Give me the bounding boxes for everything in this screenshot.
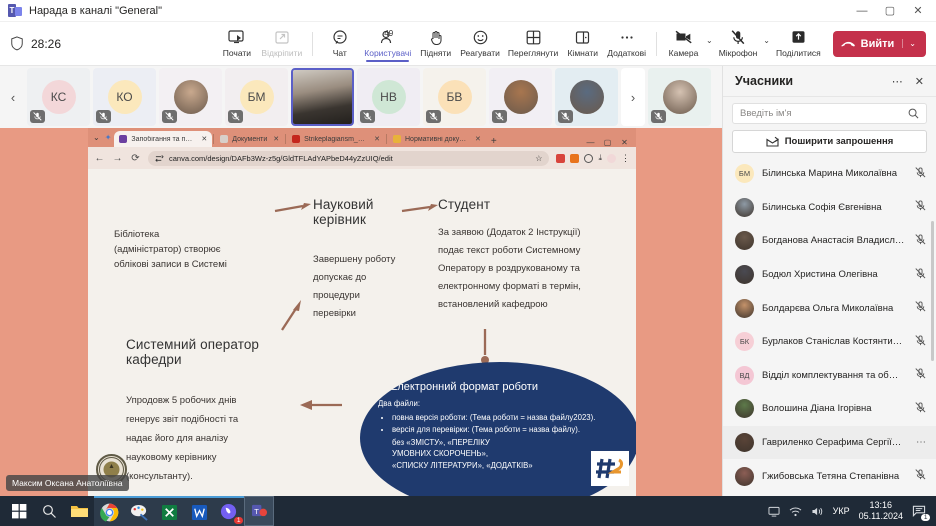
chrome-menu-icon[interactable]: ⋮ xyxy=(621,153,630,164)
participant-row[interactable]: Білинська Софія Євгенівна xyxy=(723,191,936,225)
avatar xyxy=(174,80,208,114)
clock[interactable]: 13:16 05.11.2024 xyxy=(859,500,903,522)
participant-name: Білинська Софія Євгенівна xyxy=(762,202,907,213)
video-tile[interactable]: БМ xyxy=(225,68,288,126)
react-button[interactable]: Реагувати xyxy=(456,28,504,60)
participants-panel-header: Учасники ⋯ ✕ xyxy=(723,66,936,96)
address-bar[interactable]: canva.com/design/DAFb3Wz-z5g/GldTFLAdYAP… xyxy=(148,151,549,166)
canva-slide: Бібліотека (адміністратор) створює облік… xyxy=(88,169,636,496)
microphone-caret-icon[interactable]: ⌄ xyxy=(761,36,772,51)
participant-search-field[interactable] xyxy=(732,103,927,124)
mic-off-icon[interactable] xyxy=(915,402,926,416)
mic-off-icon xyxy=(162,110,177,123)
avatar xyxy=(570,80,604,114)
sparkle-icon: ✦ xyxy=(105,133,112,142)
camera-label: Камера xyxy=(669,48,699,58)
clock-date: 05.11.2024 xyxy=(859,511,903,522)
extension-icon-1[interactable] xyxy=(556,154,565,163)
microphone-button[interactable]: Мікрофон xyxy=(715,28,762,60)
profile-sync-icon[interactable] xyxy=(584,154,593,163)
slide-block-supervisor-title: Науковий керівник xyxy=(313,197,373,227)
bookmark-icon[interactable]: ☆ xyxy=(535,154,542,163)
video-tile[interactable]: НВ xyxy=(357,68,420,126)
participant-name: Відділ комплектування та об… xyxy=(762,370,907,381)
avatar xyxy=(735,231,754,250)
address-bar-url: canva.com/design/DAFb3Wz-z5g/GldTFLAdYAP… xyxy=(169,154,393,163)
participant-initials: ВД xyxy=(735,366,754,385)
mic-off-icon xyxy=(96,110,111,123)
search-input[interactable] xyxy=(740,108,908,119)
tab-favicon-icon xyxy=(393,135,401,143)
share-invite-label: Поширити запрошення xyxy=(785,136,894,147)
meeting-toolbar: 28:26 Почати Відкріпити Чат xyxy=(0,22,936,66)
react-label: Реагувати xyxy=(460,48,500,58)
mic-off-icon[interactable] xyxy=(915,335,926,349)
ellipse-body: Два файли: повна версія роботи: (Тема ро… xyxy=(378,398,623,471)
wifi-icon[interactable] xyxy=(789,506,802,517)
mic-off-icon[interactable] xyxy=(915,200,926,214)
participant-row[interactable]: БМБілинська Марина Миколаївна xyxy=(723,157,936,191)
raise-hand-icon xyxy=(429,29,443,46)
mic-off-icon xyxy=(228,110,243,123)
chat-icon xyxy=(332,29,348,46)
participant-row[interactable]: Богданова Анастасія Владисл… xyxy=(723,224,936,258)
panel-close-icon[interactable]: ✕ xyxy=(915,75,924,88)
participant-row[interactable]: БКБурлаков Станіслав Костянти… xyxy=(723,325,936,359)
mic-off-icon[interactable] xyxy=(915,234,926,248)
avatar-icon[interactable] xyxy=(607,154,616,163)
chat-button[interactable]: Чат xyxy=(319,28,360,60)
language-indicator[interactable]: УКР xyxy=(833,506,850,516)
avatar xyxy=(663,80,697,114)
paint-icon xyxy=(130,504,149,521)
start-presenting-label: Почати xyxy=(223,48,251,58)
mic-off-icon xyxy=(492,110,507,123)
browser-minimize-button[interactable]: — xyxy=(582,138,599,147)
participant-initials: КО xyxy=(108,80,142,114)
camera-off-icon xyxy=(675,29,693,46)
tab-title: Strikeplagiarism_com xyxy=(304,136,368,143)
unpin-icon xyxy=(274,29,290,46)
participant-name: Гжибовська Тетяна Степанівна xyxy=(762,471,907,482)
hangup-icon xyxy=(841,39,856,48)
raise-hand-button[interactable]: Підняти xyxy=(415,28,456,60)
ellipse-title: Електронний формат роботи xyxy=(390,381,538,393)
slide-block-student-body: За заявою (Додаток 2 Інструкції) подає т… xyxy=(438,224,628,314)
windows-logo-icon xyxy=(12,504,27,519)
app-title-bar: Нарада в каналі "General" — ▢ ✕ xyxy=(0,0,936,22)
browser-close-button[interactable]: ✕ xyxy=(616,138,633,147)
toolbar-divider-2 xyxy=(656,32,657,56)
mic-off-icon xyxy=(651,110,666,123)
slide-block-supervisor-body: Завершену роботу допускає до процедури п… xyxy=(313,251,423,323)
arrow-to-student-icon xyxy=(400,202,440,218)
share-invite-button[interactable]: Поширити запрошення xyxy=(732,130,927,153)
share-icon xyxy=(791,29,806,46)
leave-label: Вийти xyxy=(861,38,895,50)
toolbar-actions: Почати Відкріпити Чат 49 Користувачі xyxy=(216,28,926,60)
ellipse-bullet: повна версія роботи: (Тема роботи = назв… xyxy=(392,412,623,424)
video-tile[interactable] xyxy=(648,68,711,126)
search-icon xyxy=(42,504,57,519)
new-tab-button[interactable]: + xyxy=(486,136,502,147)
maximize-button[interactable]: ▢ xyxy=(876,0,904,22)
extension-icon-2[interactable] xyxy=(570,154,579,163)
more-icon xyxy=(619,29,635,46)
participants-scrollbar[interactable] xyxy=(931,221,934,361)
browser-tab[interactable]: Запобігання та прот…✕ xyxy=(114,131,212,147)
start-presenting-button[interactable]: Почати xyxy=(216,28,257,60)
teams-logo-icon xyxy=(8,4,22,17)
arrow-to-supervisor-icon xyxy=(273,202,313,218)
tab-separator xyxy=(213,134,214,144)
excel-icon xyxy=(161,504,178,521)
share-label: Поділитися xyxy=(776,48,821,58)
chrome-icon xyxy=(100,503,119,522)
avatar xyxy=(504,80,538,114)
notification-center-button[interactable]: 1 xyxy=(912,504,926,519)
teams-icon: T xyxy=(251,503,268,519)
participants-button[interactable]: 49 Користувачі xyxy=(360,28,415,60)
browser-window-controls: — ▢ ✕ xyxy=(582,138,636,147)
video-tile[interactable] xyxy=(555,68,618,126)
viber-badge: 1 xyxy=(234,517,243,524)
excel-taskbar-button[interactable] xyxy=(154,496,184,526)
mic-off-icon xyxy=(731,29,745,46)
participant-initials: БК xyxy=(735,332,754,351)
avatar xyxy=(735,433,754,452)
start-button[interactable] xyxy=(4,496,34,526)
participant-initials: БМ xyxy=(240,80,274,114)
video-tile[interactable] xyxy=(159,68,222,126)
participants-label: Користувачі xyxy=(364,48,411,58)
avatar xyxy=(735,467,754,486)
leave-meeting-button[interactable]: Вийти ⌄ xyxy=(833,31,926,57)
participant-name: Бурлаков Станіслав Костянти… xyxy=(762,336,907,347)
arrow-up-to-supervisor-icon xyxy=(278,297,304,333)
mic-off-icon xyxy=(426,110,441,123)
participant-initials: БВ xyxy=(438,80,472,114)
viber-taskbar-button[interactable]: 1 xyxy=(214,496,244,526)
svg-text:T: T xyxy=(254,507,259,516)
unpin-button[interactable]: Відкріпити xyxy=(257,28,306,60)
chrome-taskbar-button[interactable] xyxy=(94,496,124,526)
video-tiles: КСКОБМНВБВ› xyxy=(27,68,711,126)
breakout-rooms-label: Кімнати xyxy=(567,48,598,58)
participants-count: 49 xyxy=(384,29,393,38)
participant-initials: БМ xyxy=(735,164,754,183)
participants-panel-title: Учасники xyxy=(735,74,793,88)
share-invite-icon xyxy=(766,136,779,148)
participant-name: Богданова Анастасія Владисл… xyxy=(762,235,907,246)
microphone-label: Мікрофон xyxy=(719,48,758,58)
browser-tab[interactable]: Нормативні докумен✕ xyxy=(388,131,486,147)
video-tile[interactable]: БВ xyxy=(423,68,486,126)
participant-video-strip: ‹ КСКОБМНВБВ› xyxy=(0,66,722,128)
tab-close-icon[interactable]: ✕ xyxy=(374,135,380,143)
breakout-rooms-icon xyxy=(575,29,590,46)
forward-button[interactable]: → xyxy=(112,153,123,164)
meeting-timer: 28:26 xyxy=(31,37,61,51)
avatar xyxy=(735,265,754,284)
participant-name: Бодюл Христина Олегівна xyxy=(762,269,907,280)
shield-icon xyxy=(10,36,24,51)
shared-screen-area: ⌄ ✦ Запобігання та прот…✕Документи✕Strik… xyxy=(0,128,722,496)
arrow-left-from-ellipse-icon xyxy=(296,397,344,413)
hashtag-logo-icon xyxy=(591,451,629,486)
panel-divider xyxy=(723,96,936,97)
tab-favicon-icon xyxy=(119,135,127,143)
toolbar-divider-1 xyxy=(312,32,313,56)
tab-separator xyxy=(386,134,387,144)
more-options-button[interactable]: Додаткові xyxy=(603,28,650,60)
participant-row[interactable]: Гжибовська Тетяна Степанівна xyxy=(723,459,936,493)
breakout-rooms-button[interactable]: Кімнати xyxy=(562,28,603,60)
emoji-icon xyxy=(473,29,488,46)
mic-off-icon[interactable] xyxy=(915,268,926,282)
taskbar-search-button[interactable] xyxy=(34,496,64,526)
mic-off-icon[interactable] xyxy=(915,301,926,315)
browser-tab[interactable]: Документи✕ xyxy=(215,131,284,147)
slide-block-operator-title: Системний оператор кафедри xyxy=(126,337,259,367)
tab-close-icon[interactable]: ✕ xyxy=(273,135,279,143)
browser-maximize-button[interactable]: ▢ xyxy=(599,138,616,147)
avatar xyxy=(735,399,754,418)
tab-title: Нормативні докумен xyxy=(405,136,469,143)
folder-icon xyxy=(70,503,89,519)
avatar xyxy=(735,299,754,318)
window-title: Нарада в каналі "General" xyxy=(29,5,162,17)
mic-off-icon xyxy=(360,110,375,123)
participants-panel: Учасники ⋯ ✕ Поширити запрошення БМБілин… xyxy=(722,66,936,496)
video-tile[interactable] xyxy=(291,68,354,126)
clock-time: 13:16 xyxy=(859,500,903,511)
unpin-label: Відкріпити xyxy=(261,48,302,58)
video-tile[interactable] xyxy=(489,68,552,126)
leave-caret-icon[interactable]: ⌄ xyxy=(902,39,922,48)
ellipse-bullets: повна версія роботи: (Тема роботи = назв… xyxy=(392,412,623,436)
participant-row[interactable]: ВДВідділ комплектування та об… xyxy=(723,359,936,393)
avatar xyxy=(735,198,754,217)
slide-block-student-title: Студент xyxy=(438,197,490,212)
camera-button[interactable]: Камера xyxy=(663,28,704,60)
participant-name: Болдарєва Ольга Миколаївна xyxy=(762,303,907,314)
downloads-icon[interactable]: ⤓ xyxy=(598,153,602,163)
panel-more-icon[interactable]: ⋯ xyxy=(892,75,903,88)
tab-favicon-icon xyxy=(220,135,228,143)
display-icon[interactable] xyxy=(768,506,780,517)
tab-separator xyxy=(285,134,286,144)
ellipse-intro: Два файли: xyxy=(378,398,623,410)
participant-name: Білинська Марина Миколаївна xyxy=(762,168,907,179)
participant-row[interactable]: Гавриленко Серафима Сергії…⋯ xyxy=(723,426,936,460)
reload-button[interactable]: ⟳ xyxy=(130,153,141,164)
browser-extensions: ⤓ ⋮ xyxy=(556,153,630,164)
participant-initials: НВ xyxy=(372,80,406,114)
participant-row[interactable]: Бодюл Христина Олегівна xyxy=(723,258,936,292)
tab-search-chevron-icon[interactable]: ⌄ xyxy=(93,133,100,142)
tab-close-icon[interactable]: ✕ xyxy=(475,135,481,143)
arrow-down-to-ellipse-icon xyxy=(480,329,490,365)
browser-tabs: Запобігання та прот…✕Документи✕Strikepla… xyxy=(114,131,485,147)
video-feed xyxy=(293,70,352,124)
ellipse-bullet: версія для перевірки: (Тема роботи = наз… xyxy=(392,424,623,436)
file-explorer-button[interactable] xyxy=(64,496,94,526)
mic-off-icon xyxy=(558,110,573,123)
minimize-button[interactable]: — xyxy=(848,0,876,22)
participant-row[interactable]: Болдарєва Ольга Миколаївна xyxy=(723,291,936,325)
search-icon[interactable] xyxy=(908,108,919,119)
mic-off-icon xyxy=(30,110,45,123)
participants-list: БМБілинська Марина МиколаївнаБілинська С… xyxy=(723,157,936,497)
strip-prev-button[interactable]: ‹ xyxy=(2,68,24,126)
participants-rows: БМБілинська Марина МиколаївнаБілинська С… xyxy=(723,157,936,493)
teams-taskbar-button[interactable]: T xyxy=(244,496,274,526)
volume-icon[interactable] xyxy=(811,506,824,517)
video-tile[interactable]: КС xyxy=(27,68,90,126)
site-settings-icon[interactable] xyxy=(155,154,164,163)
share-button[interactable]: Поділитися xyxy=(772,28,825,60)
tab-favicon-icon xyxy=(292,135,300,143)
shared-browser-window: ⌄ ✦ Запобігання та прот…✕Документи✕Strik… xyxy=(88,128,636,496)
chat-label: Чат xyxy=(333,48,347,58)
tab-title: Документи xyxy=(232,136,267,143)
mic-off-icon[interactable] xyxy=(915,167,926,181)
participant-more-icon[interactable]: ⋯ xyxy=(916,437,926,448)
participant-initials: КС xyxy=(42,80,76,114)
more-options-label: Додаткові xyxy=(607,48,646,58)
tab-close-icon[interactable]: ✕ xyxy=(201,135,207,143)
ellipse-tail: без «ЗМІСТУ», «ПЕРЕЛІКУ УМОВНИХ СКОРОЧЕН… xyxy=(392,437,623,472)
windows-taskbar: 1 T УКР 13:16 05.11.2024 1 xyxy=(0,496,936,526)
video-tile[interactable]: КО xyxy=(93,68,156,126)
browser-toolbar: ← → ⟳ canva.com/design/DAFb3Wz-z5g/GldTF… xyxy=(88,147,636,169)
browser-tab[interactable]: Strikeplagiarism_com✕ xyxy=(287,131,385,147)
share-screen-icon xyxy=(228,29,245,46)
system-tray: УКР 13:16 05.11.2024 1 xyxy=(768,500,932,522)
close-button[interactable]: ✕ xyxy=(904,0,932,22)
participant-name: Гавриленко Серафима Сергії… xyxy=(762,437,908,448)
paint-taskbar-button[interactable] xyxy=(124,496,154,526)
presenter-name-label: Максим Оксана Анатоліївна xyxy=(6,475,129,491)
mic-off-icon[interactable] xyxy=(915,368,926,382)
mic-off-icon[interactable] xyxy=(915,469,926,483)
view-label: Переглянути xyxy=(508,48,558,58)
tab-title: Запобігання та прот… xyxy=(131,136,195,143)
view-button[interactable]: Переглянути xyxy=(504,28,562,60)
back-button[interactable]: ← xyxy=(94,153,105,164)
strip-next-button[interactable]: › xyxy=(621,68,645,126)
raise-hand-label: Підняти xyxy=(420,48,451,58)
notifications-badge: 1 xyxy=(921,514,930,521)
grid-view-icon xyxy=(526,29,541,46)
window-controls: — ▢ ✕ xyxy=(848,0,932,22)
word-taskbar-button[interactable] xyxy=(184,496,214,526)
word-icon xyxy=(191,504,208,521)
participant-row[interactable]: Волошина Діана Ігорівна xyxy=(723,392,936,426)
participant-name: Волошина Діана Ігорівна xyxy=(762,403,907,414)
browser-tab-bar: ⌄ ✦ Запобігання та прот…✕Документи✕Strik… xyxy=(88,128,636,147)
camera-caret-icon[interactable]: ⌄ xyxy=(704,36,715,51)
slide-block-library: Бібліотека (адміністратор) створює облік… xyxy=(114,227,289,272)
